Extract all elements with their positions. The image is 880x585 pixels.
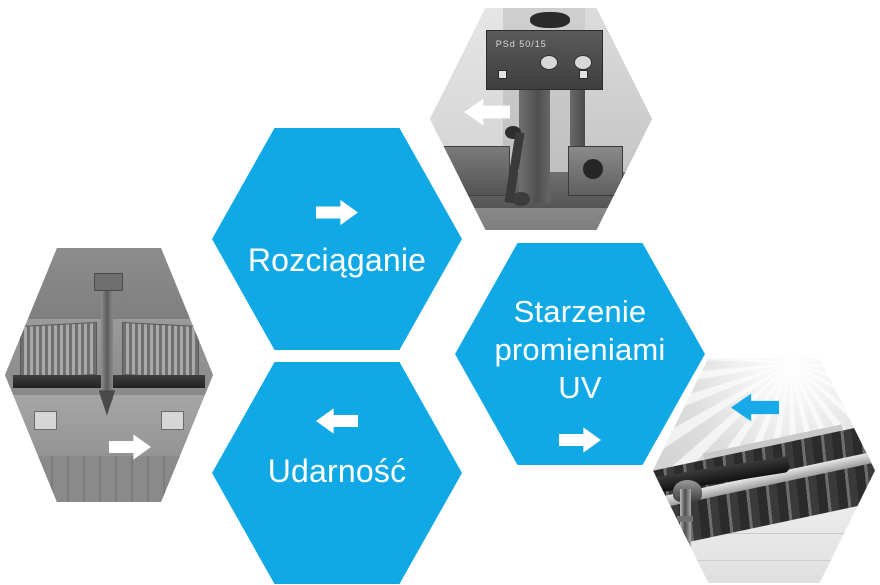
hex-label-rozciaganie: Rozciąganie bbox=[248, 241, 426, 280]
roof-uv-photo bbox=[653, 358, 875, 583]
photo-hex-impact-tester[interactable]: PSd 50/15 bbox=[430, 8, 652, 230]
arrow-right-icon bbox=[316, 197, 358, 227]
photo-hex-tensile-rig[interactable] bbox=[5, 248, 213, 502]
hex-node-udarnosc[interactable]: Udarność bbox=[212, 362, 462, 584]
hex-node-rozciaganie[interactable]: Rozciąganie bbox=[212, 128, 462, 350]
tensile-rig-photo bbox=[5, 248, 213, 502]
hex-node-starzenie-uv[interactable]: Starzenie promieniami UV bbox=[455, 243, 705, 465]
hex-label-starzenie-uv: Starzenie promieniami UV bbox=[494, 293, 665, 407]
diagram-canvas: PSd 50/15 bbox=[0, 0, 880, 585]
arrow-right-icon bbox=[559, 425, 601, 455]
photo-hex-roof-uv[interactable] bbox=[653, 358, 875, 583]
hex-label-udarnosc: Udarność bbox=[268, 452, 407, 491]
arrow-left-icon bbox=[316, 406, 358, 436]
impact-tester-photo: PSd 50/15 bbox=[430, 8, 652, 230]
machine-panel-label: PSd 50/15 bbox=[496, 39, 547, 49]
